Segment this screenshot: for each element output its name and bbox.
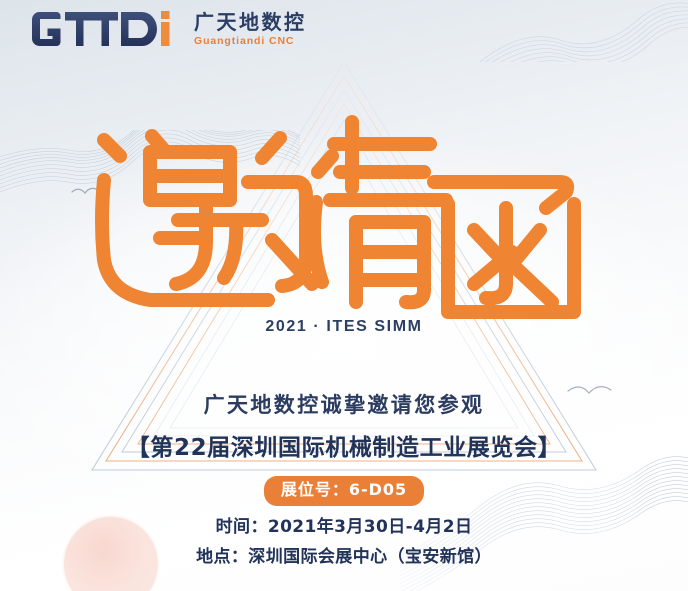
booth-number-badge: 展位号：6-D05 <box>264 476 424 506</box>
company-name-cn: 广天地数控 <box>194 12 307 32</box>
calligraphy-invitation <box>0 72 688 322</box>
header-logo-bar: 广天地数控 Guangtiandi CNC <box>0 0 688 62</box>
hero-subtitle: 2021 · ITES SIMM <box>0 318 688 336</box>
expo-title-line: 【第22届深圳国际机械制造工业展览会】 <box>0 434 688 463</box>
venue-line: 地点：深圳国际会展中心（宝安新馆） <box>0 546 688 569</box>
invite-line: 广天地数控诚挚邀请您参观 <box>0 392 688 418</box>
company-name-en: Guangtiandi CNC <box>194 36 307 47</box>
gtdi-logo <box>32 9 182 49</box>
invitation-poster: 广天地数控 Guangtiandi CNC <box>0 0 688 591</box>
brand-text: 广天地数控 Guangtiandi CNC <box>194 11 307 47</box>
brand-lockup: 广天地数控 Guangtiandi CNC <box>32 9 307 49</box>
date-line: 时间：2021年3月30日-4月2日 <box>0 516 688 539</box>
invitation-text-block: 广天地数控诚挚邀请您参观 【第22届深圳国际机械制造工业展览会】 展位号：6-D… <box>0 392 688 569</box>
